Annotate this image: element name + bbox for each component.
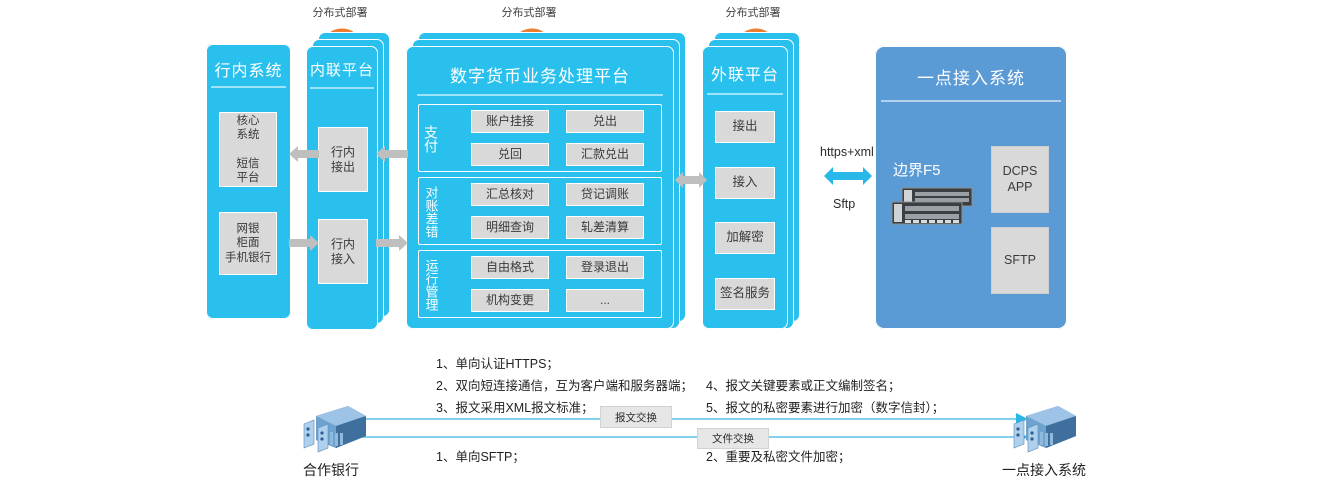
divider [310, 87, 373, 89]
arrow-dcep-external-bidirectional [675, 172, 707, 188]
file-exchange-line [340, 430, 1030, 444]
box-ebank-counter-mobile[interactable]: 网银 柜面 手机银行 [219, 212, 277, 275]
architecture-diagram: 分布式部署 分布式部署 分布式部署 行内系统 核心 系统 短信 平台 网银 柜面… [0, 0, 1333, 483]
panel-single-access-system: 一点接入系统 边界F5 [875, 46, 1067, 329]
group-operations: 运行管理 自由格式 登录退出 机构变更 ... [418, 250, 662, 318]
group-payment: 支付 账户挂接 兑出 兑回 汇款兑出 [418, 104, 662, 172]
box-free-format[interactable]: 自由格式 [471, 256, 549, 279]
panel-title-external-platform: 外联平台 [702, 61, 788, 85]
message-exchange-line [340, 412, 1030, 426]
link-arrow-bidirectional [824, 167, 872, 185]
box-external-in[interactable]: 接入 [715, 167, 775, 199]
link-label-sftp: Sftp [833, 197, 855, 211]
divider [211, 86, 286, 88]
box-signature-service[interactable]: 签名服务 [715, 278, 775, 310]
panel-title-bank-internal: 行内系统 [206, 57, 291, 81]
box-encrypt-decrypt[interactable]: 加解密 [715, 222, 775, 254]
panel-external-platform: 外联平台 接出 接入 加解密 签名服务 [702, 46, 788, 329]
box-netting-settlement[interactable]: 轧差清算 [566, 216, 644, 239]
box-detail-query[interactable]: 明细查询 [471, 216, 549, 239]
arrow-dcep-to-intranet-out [376, 146, 408, 162]
box-sftp[interactable]: SFTP [991, 227, 1049, 294]
server-icon-partner-bank [296, 402, 368, 456]
arrow-intranet-out-to-core [289, 146, 319, 162]
server-icon-single-access [1006, 402, 1078, 456]
group-label-reconciliation: 对账差错 [421, 180, 441, 244]
box-credit-adjust[interactable]: 贷记调账 [566, 183, 644, 206]
box-exchange-back[interactable]: 兑回 [471, 143, 549, 166]
f5-label: 边界F5 [893, 159, 941, 180]
box-external-out[interactable]: 接出 [715, 111, 775, 143]
box-summary-check[interactable]: 汇总核对 [471, 183, 549, 206]
group-reconciliation: 对账差错 汇总核对 贷记调账 明细查询 轧差清算 [418, 177, 662, 245]
note-lower-left: 1、单向SFTP； [436, 446, 525, 465]
server-label-single-access: 一点接入系统 [994, 460, 1094, 480]
box-org-change[interactable]: 机构变更 [471, 289, 549, 312]
box-exchange-out[interactable]: 兑出 [566, 110, 644, 133]
group-label-payment: 支付 [421, 113, 441, 165]
box-intranet-out[interactable]: 行内 接出 [318, 127, 368, 192]
divider [707, 93, 783, 95]
box-more[interactable]: ... [566, 289, 644, 312]
note-left-2: 2、双向短连接通信，互为客户端和服务器端； [436, 375, 693, 394]
note-left-1: 1、单向认证HTTPS； [436, 353, 559, 372]
exchange-label-message: 报文交换 [600, 406, 672, 428]
f5-switch-icon [890, 186, 974, 234]
link-label-https-xml: https+xml [820, 145, 874, 159]
panel-bank-internal: 行内系统 核心 系统 短信 平台 网银 柜面 手机银行 [206, 44, 291, 319]
box-remittance-out[interactable]: 汇款兑出 [566, 143, 644, 166]
box-core-system[interactable]: 核心 系统 短信 平台 [219, 112, 277, 187]
box-account-link[interactable]: 账户挂接 [471, 110, 549, 133]
panel-intranet-platform: 内联平台 行内 接出 行内 接入 [306, 46, 378, 330]
group-label-operations: 运行管理 [421, 253, 441, 317]
box-login-logout[interactable]: 登录退出 [566, 256, 644, 279]
box-dcps-app[interactable]: DCPS APP [991, 146, 1049, 213]
arrow-intranet-in-to-dcep [376, 235, 408, 251]
panel-title-dcep-platform: 数字货币业务处理平台 [406, 62, 674, 87]
arrow-ebank-to-intranet-in [289, 235, 319, 251]
exchange-label-file: 文件交换 [697, 428, 769, 449]
panel-title-intranet-platform: 内联平台 [306, 59, 378, 80]
divider [417, 94, 664, 96]
panel-title-single-access-system: 一点接入系统 [875, 64, 1067, 89]
panel-dcep-platform: 数字货币业务处理平台 支付 账户挂接 兑出 兑回 汇款兑出 对账差错 汇总核对 … [406, 46, 674, 329]
note-right-4: 4、报文关键要素或正文编制签名； [706, 375, 900, 394]
server-label-partner-bank: 合作银行 [286, 460, 376, 480]
box-intranet-in[interactable]: 行内 接入 [318, 219, 368, 284]
divider [881, 100, 1061, 102]
